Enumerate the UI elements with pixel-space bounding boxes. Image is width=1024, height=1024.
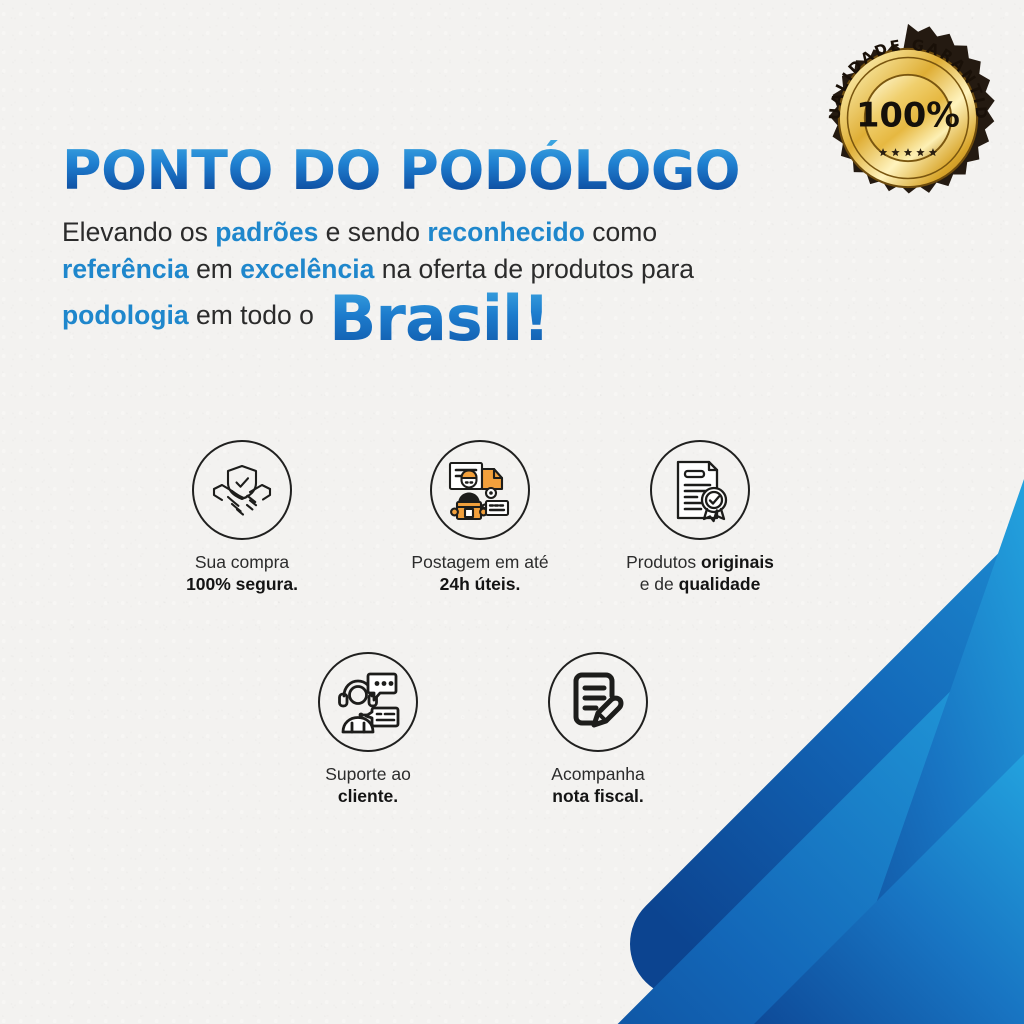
swoosh-corner-wedge <box>834 479 1024 1024</box>
feature-icon-circle <box>548 652 648 752</box>
subtitle-segment-1: padrões <box>215 217 318 247</box>
feature-icon-circle <box>318 652 418 752</box>
feature-label-line2: cliente. <box>268 785 468 807</box>
feature-label: Acompanha nota fiscal. <box>498 763 698 807</box>
subtitle-segment-2: e sendo <box>318 217 427 247</box>
subtitle-segment-3: na oferta de produtos para <box>374 254 694 284</box>
feature-label-line1: Suporte ao <box>268 763 468 785</box>
invoice-document-pencil-icon <box>562 666 634 738</box>
feature-label-segment-0: Produtos <box>626 552 701 572</box>
certificate-award-icon <box>664 454 736 526</box>
handshake-shield-icon <box>204 452 280 528</box>
feature-label-line1: Postagem em até <box>380 551 580 573</box>
feature-label-segment-1: qualidade <box>679 574 761 594</box>
feature-label: Suporte ao cliente. <box>268 763 468 807</box>
subtitle-segment-2: excelência <box>240 254 374 284</box>
subtitle-segment-1: em <box>189 254 241 284</box>
feature-sua-compra: Sua compra 100% segura. <box>142 440 342 595</box>
feature-icon-circle <box>192 440 292 540</box>
seal-center-text: 100% <box>856 96 960 135</box>
feature-label-line2: 24h úteis. <box>380 573 580 595</box>
feature-icon-circle <box>650 440 750 540</box>
feature-label-line1: Sua compra <box>142 551 342 573</box>
feature-label: Produtos originais e de qualidade <box>600 551 800 595</box>
emphasis-brasil: Brasil! <box>329 288 549 350</box>
swoosh-corner-fill <box>754 754 1024 1024</box>
feature-label-segment-1: originais <box>701 552 774 572</box>
feature-suporte-cliente: Suporte ao cliente. <box>268 652 468 807</box>
quality-seal-badge: QUALIDADE GARANTIDA 100% <box>812 22 1004 214</box>
subtitle-segment-0: referência <box>62 254 189 284</box>
subtitle-segment-0: Elevando os <box>62 217 215 247</box>
page-title: PONTO DO PODÓLOGO <box>62 140 822 202</box>
subtitle-block: Elevando os padrões e sendo reconhecido … <box>62 214 862 350</box>
subtitle-segment-4: como <box>585 217 657 247</box>
feature-label: Sua compra 100% segura. <box>142 551 342 595</box>
delivery-truck-courier-icon <box>442 452 518 528</box>
feature-label-line2: e de qualidade <box>600 573 800 595</box>
feature-postagem: Postagem em até 24h úteis. <box>380 440 580 595</box>
subtitle-line-1: Elevando os padrões e sendo reconhecido … <box>62 214 862 251</box>
promo-banner: QUALIDADE GARANTIDA 100% PONTO DO PODÓLO… <box>0 0 1024 1024</box>
feature-icon-circle <box>430 440 530 540</box>
feature-nota-fiscal: Acompanha nota fiscal. <box>498 652 698 807</box>
feature-label-line2: nota fiscal. <box>498 785 698 807</box>
emphasis-brasil-text: Brasil! <box>329 282 549 355</box>
feature-label-line1: Produtos originais <box>600 551 800 573</box>
subtitle-segment-1: em todo o <box>189 300 322 330</box>
subtitle-segment-0: podologia <box>62 300 189 330</box>
feature-label-segment-0: e de <box>640 574 679 594</box>
feature-label-line2: 100% segura. <box>142 573 342 595</box>
headset-support-chat-icon <box>330 664 406 740</box>
brand-title-text: PONTO DO PODÓLOGO <box>62 140 822 202</box>
feature-produtos-originais: Produtos originais e de qualidade <box>600 440 800 595</box>
feature-label-line1: Acompanha <box>498 763 698 785</box>
subtitle-line-3: podologia em todo o Brasil! <box>62 288 862 350</box>
subtitle-segment-3: reconhecido <box>427 217 585 247</box>
feature-label: Postagem em até 24h úteis. <box>380 551 580 595</box>
